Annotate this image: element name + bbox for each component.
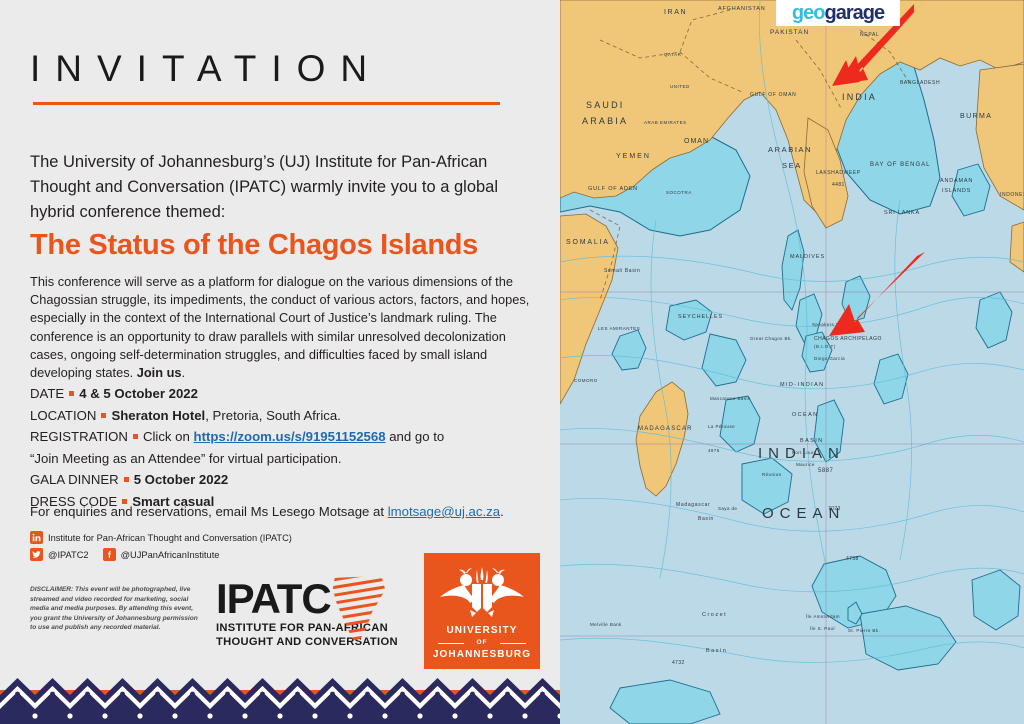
social-links: Institute for Pan-African Thought and Co…	[30, 531, 430, 565]
geogarage-garage: garage	[824, 2, 884, 25]
join-us-text: Join us	[137, 365, 182, 380]
map-label: Somali Basin	[604, 268, 640, 274]
map-label: SRI LANKA	[884, 210, 920, 216]
map-label: QATAR	[664, 52, 682, 57]
map-label: SAUDI	[586, 100, 625, 110]
map-label: La Pérouse	[708, 424, 735, 429]
linkedin-row[interactable]: Institute for Pan-African Thought and Co…	[30, 531, 430, 544]
map-label: SEA	[782, 161, 802, 170]
map-label: Basin	[706, 648, 727, 654]
detail-location: LOCATIONSheraton Hotel, Pretoria, South …	[30, 405, 540, 427]
map-label: ARABIA	[582, 116, 628, 126]
invitation-panel: INVITATION The University of Johannesbur…	[0, 0, 560, 724]
map-label: MADAGASCAR	[638, 426, 693, 432]
detail-gala: GALA DINNER5 October 2022	[30, 469, 540, 491]
map-label: BANGLADESH	[900, 80, 940, 86]
map-label: GULF OF OMAN	[750, 92, 796, 98]
title-divider	[33, 102, 500, 105]
zoom-link[interactable]: https://zoom.us/s/91951152568	[194, 429, 386, 444]
map-label: 5887	[818, 468, 834, 474]
map-label: UNITED	[670, 84, 690, 89]
detail-registration: REGISTRATIONClick on https://zoom.us/s/9…	[30, 426, 540, 448]
registration-prefix: Click on	[143, 429, 194, 444]
enquiry-text: For enquiries and reservations, email Ms…	[30, 504, 388, 519]
map-label: Basin	[698, 516, 714, 522]
map-label: 4481	[832, 182, 845, 188]
map-label: St. Pierre Bk.	[848, 628, 880, 633]
map-label: COMORO	[574, 378, 598, 383]
geogarage-geo: geo	[792, 2, 825, 25]
period: .	[182, 365, 186, 380]
bullet-icon	[69, 391, 74, 396]
map-label: 4976	[708, 448, 720, 453]
map-label: OCEAN	[792, 412, 819, 418]
page-title: INVITATION	[30, 48, 540, 90]
map-label: Madagascar	[676, 502, 711, 508]
email-link[interactable]: lmotsage@uj.ac.za	[388, 504, 500, 519]
map-label: CHAGOS ARCHIPELAGO	[814, 336, 882, 342]
map-label: 4732	[672, 660, 685, 666]
map-label: OCEAN	[762, 505, 845, 522]
gala-label: GALA DINNER	[30, 472, 119, 487]
map-label: AFGHANISTAN	[718, 6, 766, 12]
map-label: Réunion	[762, 472, 782, 477]
linkedin-icon[interactable]	[30, 531, 43, 544]
map-label: INDIAN	[758, 445, 845, 462]
map-label: ISLANDS	[942, 188, 971, 194]
facebook-handle: @UJPanAfricanInstitute	[121, 550, 220, 560]
map-label: YEMEN	[616, 153, 651, 160]
detail-date: DATE4 & 5 October 2022	[30, 383, 540, 405]
map-label: SOCOTRA	[666, 190, 692, 195]
map-label: INDONESIA	[1000, 192, 1024, 198]
map-label: ANDAMAN	[940, 178, 973, 184]
uj-line-university: UNIVERSITY	[446, 625, 517, 636]
map-label: ARABIAN	[768, 145, 812, 154]
uj-crest-icon	[439, 567, 525, 617]
linkedin-handle: Institute for Pan-African Thought and Co…	[48, 533, 292, 543]
map-label: BURMA	[960, 113, 992, 120]
map-label: INDIA	[842, 92, 877, 102]
map-label: Melville Bank	[590, 622, 622, 627]
map-label: ARAB EMIRATES	[644, 120, 687, 125]
date-label: DATE	[30, 386, 64, 401]
uj-line-of: OF	[424, 637, 540, 649]
ipatc-logo: IPATC INSTITUTE FOR PAN-AFRICAN THOUGHT …	[216, 578, 416, 658]
map-label: Great Chagos Bk.	[750, 336, 792, 341]
enquiry-line: For enquiries and reservations, email Ms…	[30, 502, 540, 521]
map-label: IRAN	[664, 9, 687, 16]
date-value: 4 & 5 October 2022	[79, 386, 198, 401]
bullet-icon	[101, 413, 106, 418]
map-label: OMAN	[684, 138, 709, 145]
map-label: LAKSHADWEEP	[816, 170, 861, 176]
location-city: , Pretoria, South Africa.	[205, 408, 341, 423]
uj-logo-text: UNIVERSITY OF JOHANNESBURG	[424, 625, 540, 661]
map-label: BASIN	[800, 438, 824, 444]
map-label: Diego Garcia	[814, 356, 845, 361]
map-label: PAKISTAN	[770, 29, 809, 36]
disclaimer-text: DISCLAIMER: This event will be photograp…	[30, 585, 198, 633]
twitter-icon[interactable]	[30, 548, 43, 561]
map-label: 4738	[846, 556, 859, 562]
map-label: SOMALIA	[566, 239, 610, 246]
facebook-icon[interactable]	[103, 548, 116, 561]
ndebele-border	[0, 668, 560, 724]
ndebele-pattern	[0, 668, 560, 724]
indian-ocean-map[interactable]: SAUDIARABIAIRANAFGHANISTANPAKISTANQATARU…	[560, 0, 1024, 724]
registration-label: REGISTRATION	[30, 429, 128, 444]
description-paragraph: This conference will serve as a platform…	[30, 273, 530, 382]
enquiry-period: .	[500, 504, 504, 519]
map-label: SEYCHELLES	[678, 314, 723, 320]
registration-instructions: “Join Meeting as an Attendee” for virtua…	[30, 448, 540, 470]
uj-logo: UNIVERSITY OF JOHANNESBURG	[424, 553, 540, 669]
map-label: MID-INDIAN	[780, 382, 825, 388]
nautical-chart[interactable]: SAUDIARABIAIRANAFGHANISTANPAKISTANQATARU…	[560, 0, 1024, 724]
bullet-icon	[124, 477, 129, 482]
registration-suffix: and go to	[386, 429, 445, 444]
map-label: Mascarene Basin	[710, 396, 751, 401]
map-label: NEPAL	[860, 32, 880, 38]
twitter-handle: @IPATC2	[48, 550, 89, 560]
map-label: LES AMIRANTES	[598, 326, 640, 331]
bullet-icon	[133, 434, 138, 439]
map-label: GULF OF ADEN	[588, 186, 638, 192]
gala-value: 5 October 2022	[134, 472, 229, 487]
map-label: Saya de	[718, 506, 737, 511]
map-label: (B.I.O.T)	[814, 344, 836, 349]
map-label: MALDIVES	[790, 254, 825, 260]
africa-map-icon	[328, 574, 390, 644]
map-label: Maurice	[796, 462, 815, 467]
map-label: Île Amsterdam	[805, 613, 840, 619]
conference-headline: The Status of the Chagos Islands	[30, 229, 550, 262]
geogarage-watermark: geogarage	[776, 0, 900, 26]
lead-paragraph: The University of Johannesburg’s (UJ) In…	[30, 150, 530, 225]
location-label: LOCATION	[30, 408, 96, 423]
event-details: DATE4 & 5 October 2022 LOCATIONSheraton …	[30, 383, 540, 512]
map-label: BAY OF BENGAL	[870, 162, 930, 168]
invitation-poster: INVITATION The University of Johannesbur…	[0, 0, 1024, 724]
description-text: This conference will serve as a platform…	[30, 274, 529, 380]
location-venue: Sheraton Hotel	[111, 408, 205, 423]
uj-line-johannesburg: JOHANNESBURG	[433, 649, 531, 660]
map-label: Île S. Paul	[809, 625, 835, 631]
map-label: Crozet	[702, 612, 727, 618]
twitter-facebook-row[interactable]: @IPATC2 @UJPanAfricanInstitute	[30, 548, 430, 561]
